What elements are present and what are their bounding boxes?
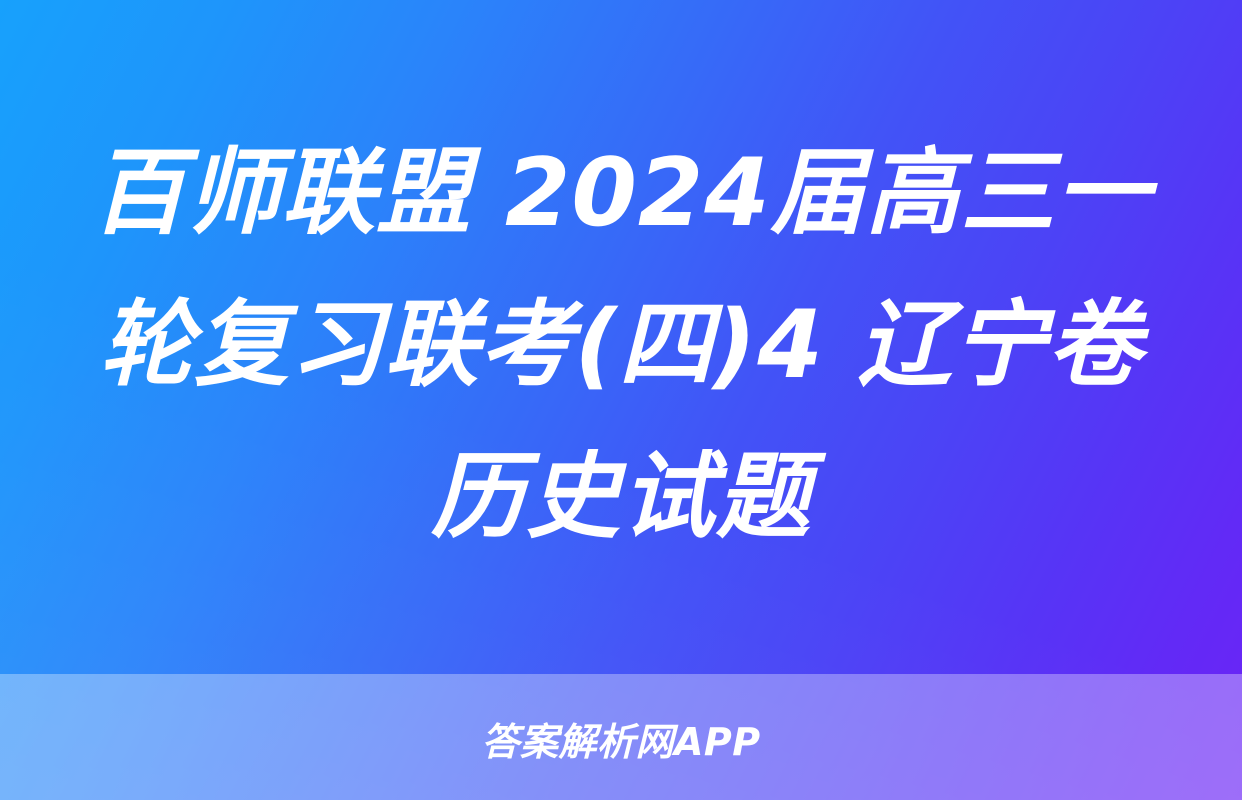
watermark-app-label: 答案解析网APP <box>481 711 760 766</box>
poster-background: 百师联盟 2024届高三一 轮复习联考(四)4 辽宁卷 历史试题 答案解析网AP… <box>0 0 1242 800</box>
title-block: 百师联盟 2024届高三一 轮复习联考(四)4 辽宁卷 历史试题 <box>0 0 1242 674</box>
title-line-2: 轮复习联考(四)4 辽宁卷 <box>99 270 1142 422</box>
bottom-watermark-band: 答案解析网APP <box>0 674 1242 800</box>
title-line-3: 历史试题 <box>431 422 811 574</box>
title-line-1: 百师联盟 2024届高三一 <box>91 118 1150 270</box>
